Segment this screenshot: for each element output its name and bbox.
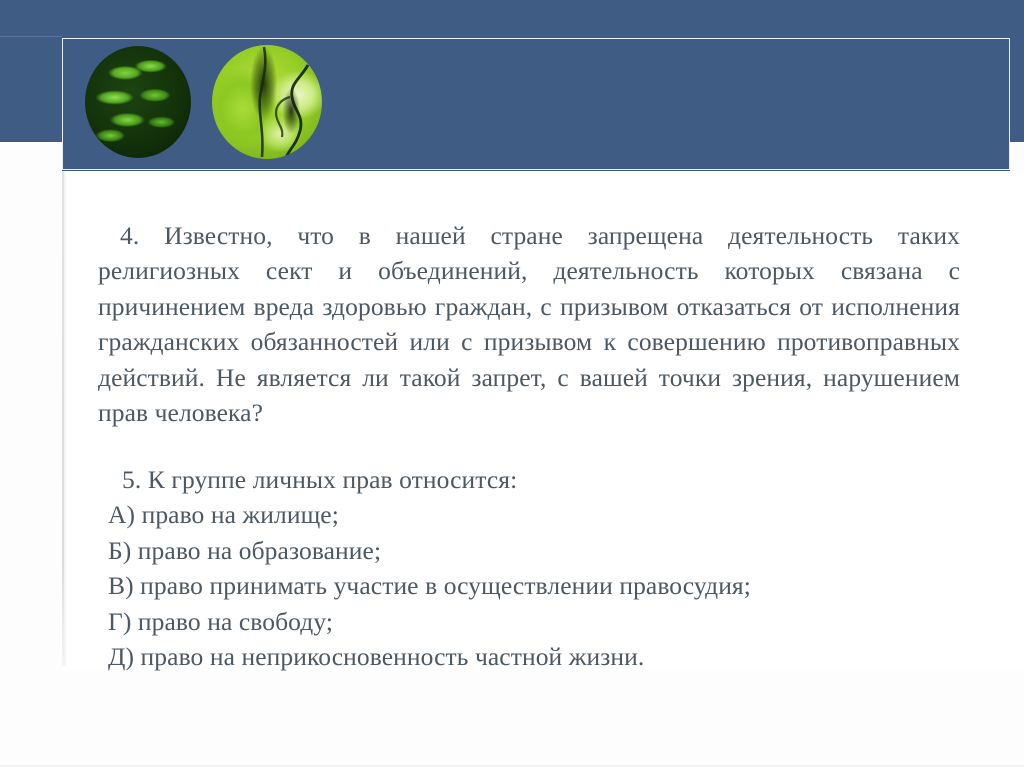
question-5-option-a: А) право на жилище; [108,497,958,532]
slide-canvas: 4. Известно, что в нашей стране запрещен… [0,0,1024,767]
question-5-stem: 5. К группе личных прав относится: [108,462,958,497]
question-5-option-d: Д) право на неприкосновенность частной ж… [108,639,958,674]
dark-green-leaves-circle-image [85,46,191,158]
banner-right-gap [1010,0,1024,142]
banner-border-frame [62,38,1010,170]
lime-green-leaf-circle-image [212,45,322,159]
question-5-option-b: Б) право на образование; [108,533,958,568]
leaf-vein-curve-icon [212,45,322,159]
question-5-option-v: В) право принимать участие в осуществлен… [108,568,958,603]
question-5-option-g: Г) право на свободу; [108,604,958,639]
banner-hairline [0,36,62,37]
question-4-paragraph: 4. Известно, что в нашей стране запрещен… [98,218,960,432]
question-5-block: 5. К группе личных прав относится: А) пр… [108,462,958,674]
page-left-edge-highlight [64,171,67,666]
